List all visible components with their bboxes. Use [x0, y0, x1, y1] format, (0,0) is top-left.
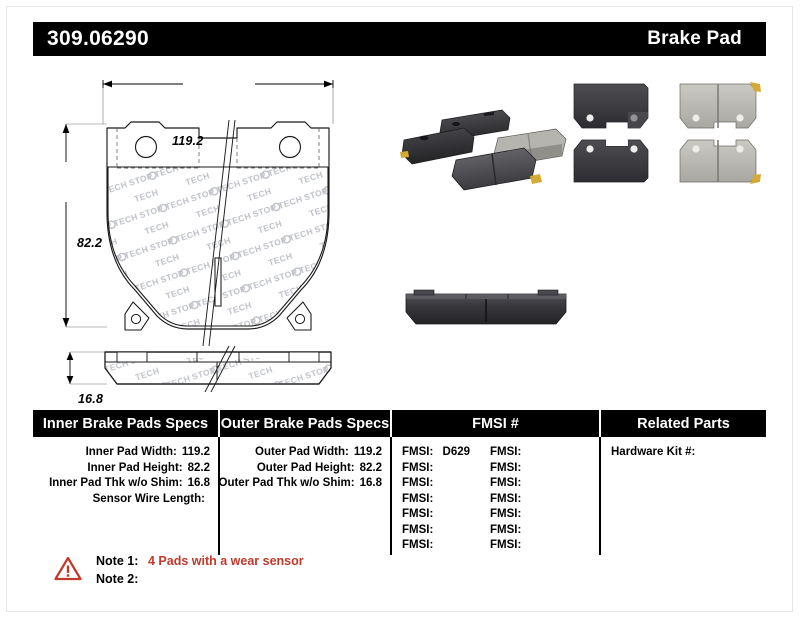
fmsi-label: FMSI:	[402, 508, 433, 520]
column-header-fmsi: FMSI #	[392, 410, 601, 437]
photo-pad-group-angled	[398, 82, 580, 194]
fmsi-row: FMSI:	[402, 476, 490, 492]
spec-value: 119.2	[182, 445, 210, 461]
fmsi-label: FMSI:	[402, 539, 433, 551]
spec-label: Inner Pad Width:	[86, 445, 177, 461]
spec-label: Inner Pad Height:	[87, 461, 182, 477]
spec-row: Sensor Wire Length:	[33, 492, 218, 508]
fmsi-label: FMSI:	[490, 524, 521, 536]
technical-drawing: STOP TECH TECH	[33, 62, 403, 392]
dimension-thickness: 16.8	[78, 392, 103, 406]
fmsi-row: FMSI:	[402, 492, 490, 508]
column-outer-specs: Outer Pad Width: 119.2 Outer Pad Height:…	[220, 437, 392, 555]
column-fmsi: FMSI: D629 FMSI: FMSI: FMSI:	[392, 437, 601, 555]
table-body: Inner Pad Width: 119.2 Inner Pad Height:…	[33, 437, 766, 555]
spec-row: Outer Pad Thk w/o Shim: 16.8	[220, 476, 390, 492]
related-part-row: Hardware Kit #:	[601, 445, 766, 461]
spec-row: Inner Pad Width: 119.2	[33, 445, 218, 461]
spec-row: Outer Pad Width: 119.2	[220, 445, 390, 461]
product-photos	[398, 70, 778, 360]
spec-value: 119.2	[354, 445, 382, 461]
photo-pad-edge-view	[400, 278, 572, 332]
spec-row: Inner Pad Height: 82.2	[33, 461, 218, 477]
fmsi-label: FMSI:	[402, 462, 433, 474]
fmsi-row: FMSI:	[490, 507, 578, 523]
spec-value: 16.8	[188, 476, 210, 492]
column-related-parts: Hardware Kit #:	[601, 437, 766, 555]
spec-row: Inner Pad Thk w/o Shim: 16.8	[33, 476, 218, 492]
fmsi-row: FMSI:	[402, 461, 490, 477]
fmsi-label: FMSI:	[402, 493, 433, 505]
fmsi-row: FMSI:	[490, 461, 578, 477]
spec-label: Sensor Wire Length:	[93, 492, 205, 508]
spec-sheet: 309.06290 Brake Pad STOP TECH TECH	[0, 0, 800, 619]
spec-label: Outer Pad Thk w/o Shim:	[219, 476, 355, 492]
spec-label: Outer Pad Height:	[257, 461, 355, 477]
fmsi-row: FMSI:	[402, 523, 490, 539]
fmsi-row: FMSI:	[402, 538, 490, 554]
product-type: Brake Pad	[647, 28, 742, 50]
photo-pad-grid	[568, 78, 776, 196]
fmsi-label: FMSI:	[402, 477, 433, 489]
column-inner-specs: Inner Pad Width: 119.2 Inner Pad Height:…	[33, 437, 220, 555]
part-number: 309.06290	[47, 27, 149, 51]
fmsi-label: FMSI:	[490, 508, 521, 520]
fmsi-label: FMSI:	[490, 446, 521, 458]
spec-row: Outer Pad Height: 82.2	[220, 461, 390, 477]
note-1: Note 1:4 Pads with a wear sensor	[96, 554, 304, 568]
fmsi-row: FMSI:	[490, 523, 578, 539]
spec-table: Inner Brake Pads Specs Outer Brake Pads …	[33, 410, 766, 555]
table-header-row: Inner Brake Pads Specs Outer Brake Pads …	[33, 410, 766, 437]
warning-triangle-icon	[54, 556, 82, 581]
fmsi-label: FMSI:	[490, 477, 521, 489]
fmsi-column-left: FMSI: D629 FMSI: FMSI: FMSI:	[402, 445, 490, 554]
spec-value: 16.8	[360, 476, 382, 492]
spec-value: 82.2	[188, 461, 210, 477]
column-header-inner-specs: Inner Brake Pads Specs	[33, 410, 220, 437]
fmsi-row: FMSI:	[490, 538, 578, 554]
pad-cad-drawing: STOP TECH TECH	[33, 62, 403, 392]
fmsi-row: FMSI: D629	[402, 445, 490, 461]
dimension-width: 119.2	[172, 134, 203, 148]
column-header-outer-specs: Outer Brake Pads Specs	[220, 410, 392, 437]
spec-value: 82.2	[360, 461, 382, 477]
header-bar: 309.06290 Brake Pad	[33, 22, 766, 56]
note-1-text: 4 Pads with a wear sensor	[148, 554, 304, 568]
fmsi-value: D629	[443, 446, 471, 458]
fmsi-row: FMSI:	[490, 476, 578, 492]
related-part-label: Hardware Kit #:	[611, 446, 695, 458]
column-header-related-parts: Related Parts	[601, 410, 766, 437]
note-2: Note 2:	[96, 572, 148, 586]
fmsi-row: FMSI:	[402, 507, 490, 523]
spec-label: Outer Pad Width:	[255, 445, 349, 461]
fmsi-label: FMSI:	[490, 493, 521, 505]
fmsi-row: FMSI:	[490, 445, 578, 461]
fmsi-row: FMSI:	[490, 492, 578, 508]
note-2-label: Note 2:	[96, 572, 148, 586]
fmsi-label: FMSI:	[490, 462, 521, 474]
fmsi-label: FMSI:	[402, 446, 433, 458]
fmsi-label: FMSI:	[402, 524, 433, 536]
dimension-height: 82.2	[77, 236, 102, 250]
fmsi-column-right: FMSI: FMSI: FMSI: FMSI:	[490, 445, 578, 554]
fmsi-label: FMSI:	[490, 539, 521, 551]
spec-label: Inner Pad Thk w/o Shim:	[49, 476, 183, 492]
note-1-label: Note 1:	[96, 554, 148, 568]
